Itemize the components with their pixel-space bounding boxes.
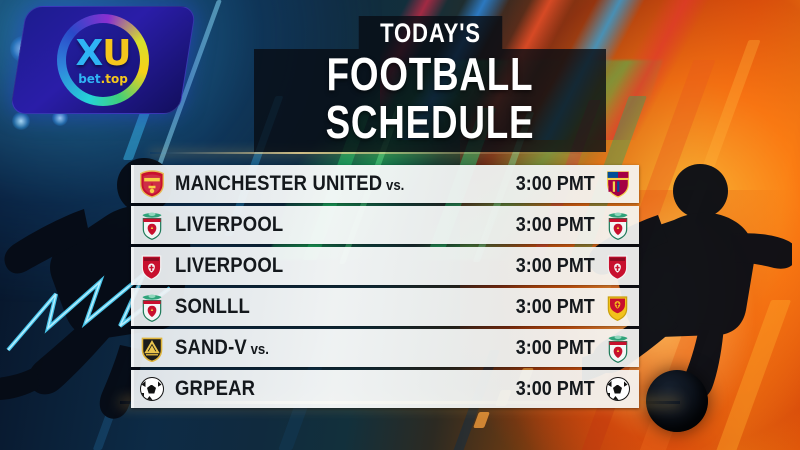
manchester-united-crest — [138, 170, 165, 199]
match-time: 3:00 PMT — [516, 173, 595, 196]
logo-ring-icon: XU bet.top — [57, 14, 149, 106]
title-line-1: TODAY'S — [358, 16, 501, 49]
match-time: 3:00 PMT — [516, 296, 595, 319]
liverpool-crest — [138, 211, 165, 240]
home-team-label: LIVERPOOL — [175, 213, 467, 237]
logo-letter-u: U — [102, 33, 130, 74]
team-name: MANCHESTER UNITED — [175, 172, 382, 195]
logo-sub-top: .top — [101, 72, 128, 86]
soccer-ball-icon — [138, 375, 165, 404]
match-time: 3:00 PMT — [516, 255, 595, 278]
gold-light-streak-top — [150, 152, 580, 154]
home-team-label: LIVERPOOL — [175, 254, 467, 278]
schedule-row[interactable]: LIVERPOOL3:00 PMT — [131, 206, 639, 244]
home-team-label: GRPEAR — [175, 377, 467, 401]
gold-shield-crest — [604, 293, 631, 322]
home-team-label: MANCHESTER UNITED vs. — [175, 172, 467, 196]
schedule-row[interactable]: SAND-V vs.3:00 PMT — [131, 329, 639, 367]
schedule-list: MANCHESTER UNITED vs.3:00 PMTLIVERPOOL3:… — [131, 165, 639, 411]
red-shield-crest — [138, 252, 165, 281]
schedule-row[interactable]: MANCHESTER UNITED vs.3:00 PMT — [131, 165, 639, 203]
team-name: GRPEAR — [175, 377, 255, 400]
team-name: LIVERPOOL — [175, 213, 283, 236]
team-name: SAND-V — [175, 336, 247, 359]
brand-logo[interactable]: XU bet.top — [18, 6, 188, 114]
red-shield-crest — [604, 252, 631, 281]
schedule-row[interactable]: SONLLL3:00 PMT — [131, 288, 639, 326]
soccer-ball-icon — [604, 375, 631, 404]
poster-canvas: XU bet.top TODAY'S FOOTBALL SCHEDULE MAN… — [0, 0, 800, 450]
match-time: 3:00 PMT — [516, 378, 595, 401]
barcelona-crest — [604, 170, 631, 199]
team-name: SONLLL — [175, 295, 250, 318]
gold-triangle-crest — [138, 334, 165, 363]
match-time: 3:00 PMT — [516, 214, 595, 237]
home-team-label: SONLLL — [175, 295, 467, 319]
schedule-row[interactable]: LIVERPOOL3:00 PMT — [131, 247, 639, 285]
home-team-label: SAND-V vs. — [175, 336, 467, 360]
logo-letter-x: X — [76, 33, 103, 74]
team-name: LIVERPOOL — [175, 254, 283, 277]
versus-label: vs. — [382, 177, 404, 194]
match-time: 3:00 PMT — [516, 337, 595, 360]
versus-label: vs. — [247, 341, 269, 358]
liverpool-crest — [604, 211, 631, 240]
schedule-row[interactable]: GRPEAR3:00 PMT — [131, 370, 639, 408]
liverpool-crest — [604, 334, 631, 363]
liverpool-crest — [138, 293, 165, 322]
page-title: TODAY'S FOOTBALL SCHEDULE — [210, 16, 650, 152]
title-line-2: FOOTBALL SCHEDULE — [254, 49, 606, 152]
logo-sub-bet: bet — [78, 72, 100, 86]
